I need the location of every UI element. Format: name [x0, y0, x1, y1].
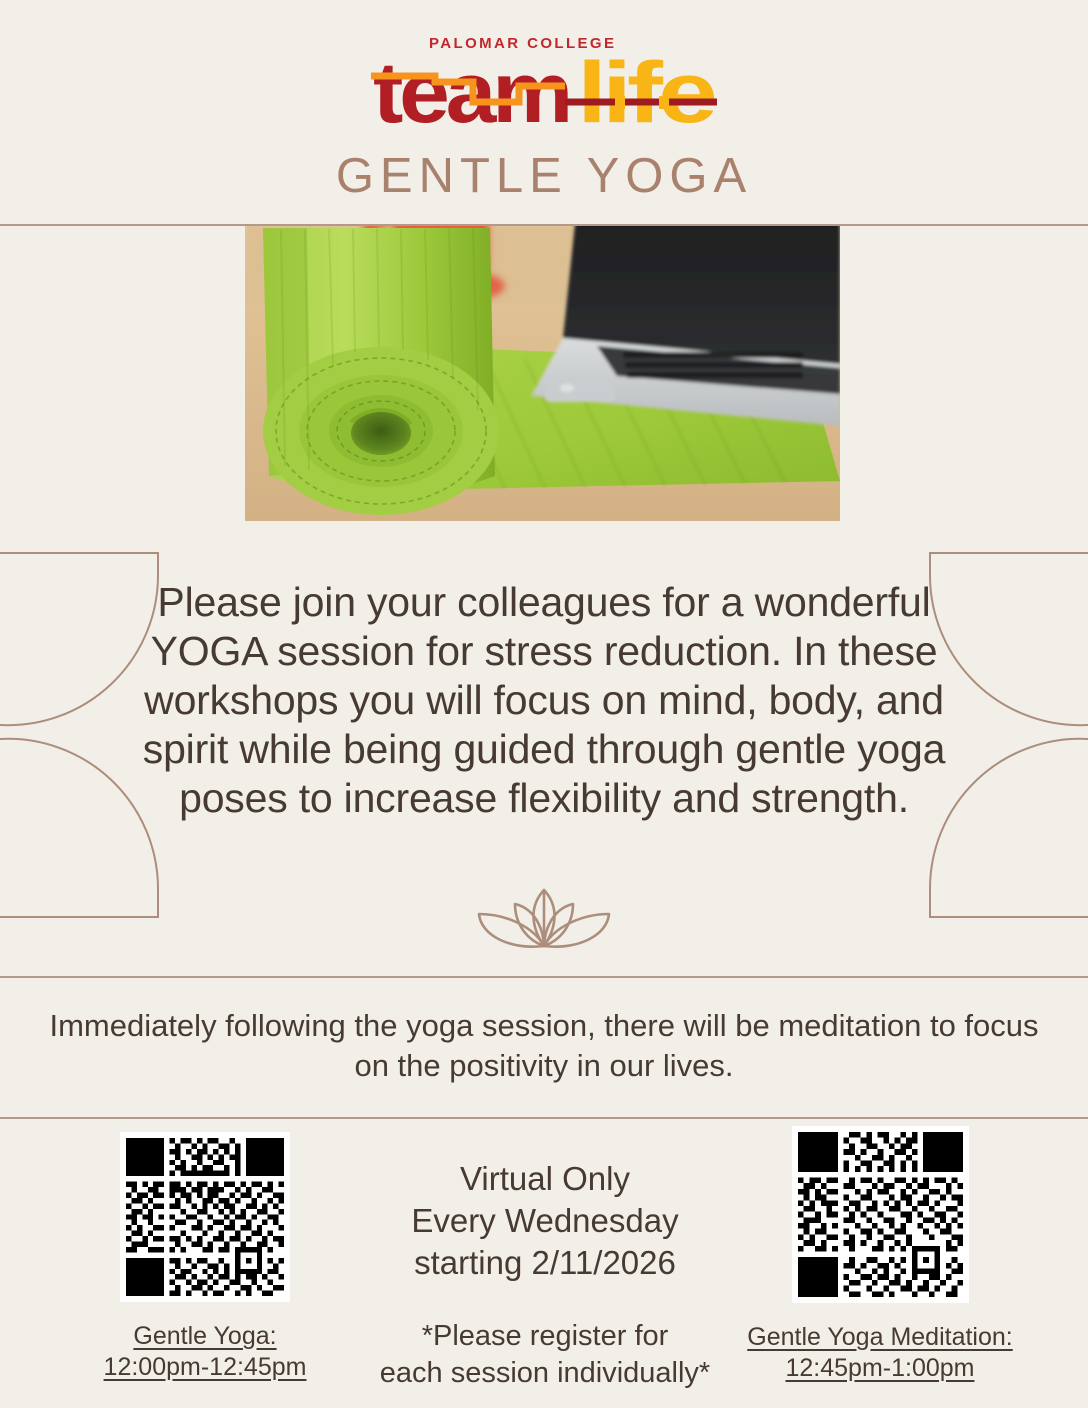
svg-text:life: life — [577, 45, 714, 135]
qr-caption-line2: 12:00pm-12:45pm — [104, 1353, 307, 1381]
schedule-block: Virtual Only Every Wednesday starting 2/… — [360, 1158, 730, 1392]
schedule-lines: Virtual Only Every Wednesday starting 2/… — [360, 1158, 730, 1284]
qr-code-icon[interactable] — [120, 1132, 290, 1302]
meditation-note: Immediately following the yoga session, … — [40, 1006, 1048, 1086]
lotus-flower-icon — [0, 884, 1088, 952]
bottom-section: Gentle Yoga: 12:00pm-12:45pm Virtual Onl… — [0, 1126, 1088, 1408]
description-paragraph: Please join your colleagues for a wonder… — [130, 578, 958, 823]
qr-caption-line1: Gentle Yoga Meditation: — [747, 1323, 1012, 1351]
qr-caption-line2: 12:45pm-1:00pm — [785, 1354, 974, 1382]
qr-caption-gentle-yoga: Gentle Yoga: 12:00pm-12:45pm — [55, 1321, 355, 1383]
schedule-line-1: Virtual Only — [360, 1158, 730, 1200]
yoga-mat-photo — [245, 226, 840, 521]
qr-caption-gentle-yoga-meditation: Gentle Yoga Meditation: 12:45pm-1:00pm — [730, 1322, 1030, 1384]
team-life-logo: PALOMAR COLLEGE team life — [0, 30, 1088, 140]
register-note: *Please register for each session indivi… — [360, 1318, 730, 1392]
qr-block-gentle-yoga[interactable]: Gentle Yoga: 12:00pm-12:45pm — [55, 1132, 355, 1383]
flyer-page: PALOMAR COLLEGE team life GENTLE YOGA — [0, 0, 1088, 1408]
divider-bottom — [0, 1117, 1088, 1119]
qr-code-icon[interactable] — [792, 1126, 969, 1303]
schedule-line-3: starting 2/11/2026 — [360, 1242, 730, 1284]
divider-middle — [0, 976, 1088, 978]
qr-caption-line1: Gentle Yoga: — [133, 1322, 276, 1350]
register-note-line-1: *Please register for — [360, 1318, 730, 1355]
page-title: GENTLE YOGA — [0, 148, 1088, 204]
qr-block-gentle-yoga-meditation[interactable]: Gentle Yoga Meditation: 12:45pm-1:00pm — [730, 1126, 1030, 1384]
schedule-line-2: Every Wednesday — [360, 1200, 730, 1242]
register-note-line-2: each session individually* — [360, 1355, 730, 1392]
